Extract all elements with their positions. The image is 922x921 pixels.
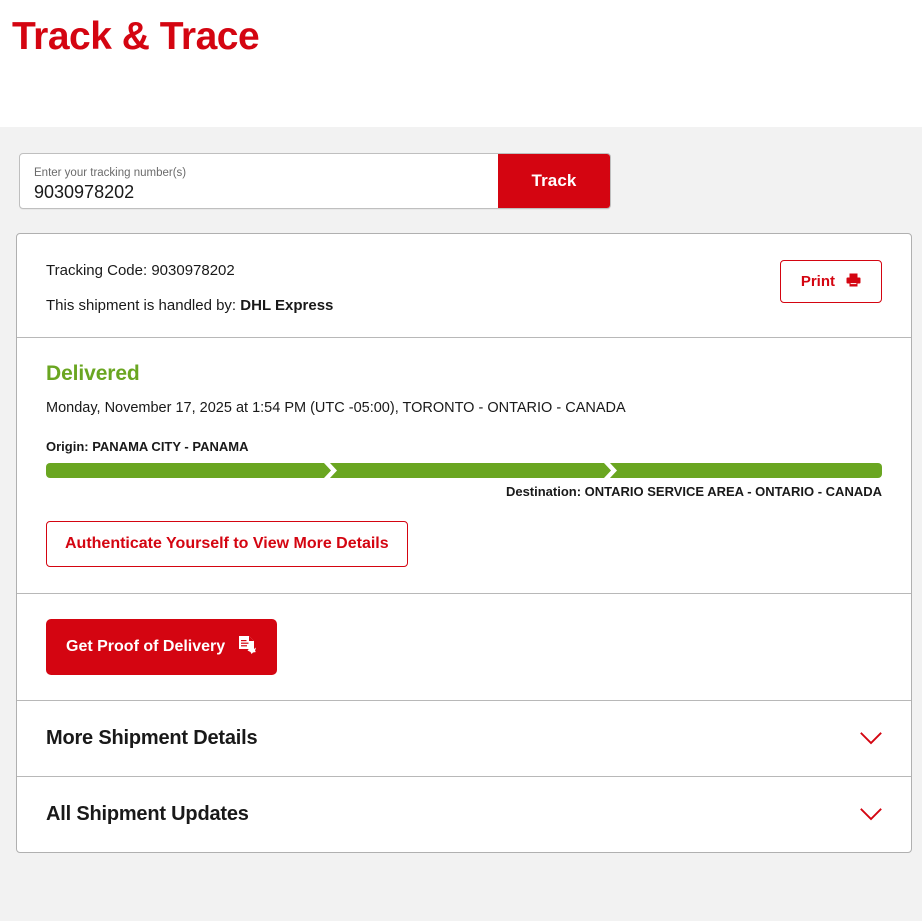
- pod-button-label: Get Proof of Delivery: [66, 639, 225, 655]
- tracking-code-text: Tracking Code: 9030978202: [46, 262, 333, 280]
- accordion-more-shipment-details[interactable]: More Shipment Details: [17, 701, 911, 776]
- accordion-title: All Shipment Updates: [46, 803, 249, 826]
- tracking-search-row: Enter your tracking number(s) Track: [10, 127, 912, 209]
- tracking-input-label: Enter your tracking number(s): [34, 166, 484, 180]
- shipment-meta-section: Tracking Code: 9030978202 This shipment …: [17, 234, 911, 337]
- destination-label: Destination: ONTARIO SERVICE AREA - ONTA…: [46, 484, 882, 500]
- status-datetime-location: Monday, November 17, 2025 at 1:54 PM (UT…: [46, 399, 882, 417]
- document-certificate-icon: [238, 635, 257, 659]
- accordion-title: More Shipment Details: [46, 727, 257, 750]
- print-button-label: Print: [801, 274, 835, 289]
- authenticate-button[interactable]: Authenticate Yourself to View More Detai…: [46, 521, 408, 567]
- chevron-down-icon[interactable]: [860, 808, 882, 821]
- status-badge: Delivered: [46, 362, 882, 386]
- get-proof-of-delivery-button[interactable]: Get Proof of Delivery: [46, 619, 277, 675]
- shipment-status-section: Delivered Monday, November 17, 2025 at 1…: [17, 338, 911, 593]
- printer-icon: [846, 273, 861, 290]
- page-header: Track & Trace: [0, 0, 922, 127]
- shipment-progress-bar: [46, 463, 882, 478]
- proof-of-delivery-section: Get Proof of Delivery: [17, 594, 911, 700]
- track-button[interactable]: Track: [498, 154, 610, 208]
- handled-by-prefix: This shipment is handled by:: [46, 297, 236, 314]
- tracking-number-input[interactable]: [34, 181, 484, 203]
- accordion-all-shipment-updates[interactable]: All Shipment Updates: [17, 777, 911, 852]
- carrier-name: DHL Express: [240, 297, 333, 314]
- page-title: Track & Trace: [12, 17, 259, 56]
- tracking-search-box: Enter your tracking number(s) Track: [19, 153, 611, 209]
- progress-bar-fill: [46, 463, 882, 478]
- tracking-input-wrapper[interactable]: Enter your tracking number(s): [20, 154, 498, 208]
- handled-by-text: This shipment is handled by: DHL Express: [46, 297, 333, 315]
- print-button[interactable]: Print: [780, 260, 882, 303]
- origin-label: Origin: PANAMA CITY - PANAMA: [46, 439, 882, 455]
- page-body: Enter your tracking number(s) Track Trac…: [0, 127, 922, 921]
- shipment-result-card: Tracking Code: 9030978202 This shipment …: [16, 233, 912, 853]
- shipment-meta-lines: Tracking Code: 9030978202 This shipment …: [46, 260, 333, 315]
- chevron-down-icon[interactable]: [860, 732, 882, 745]
